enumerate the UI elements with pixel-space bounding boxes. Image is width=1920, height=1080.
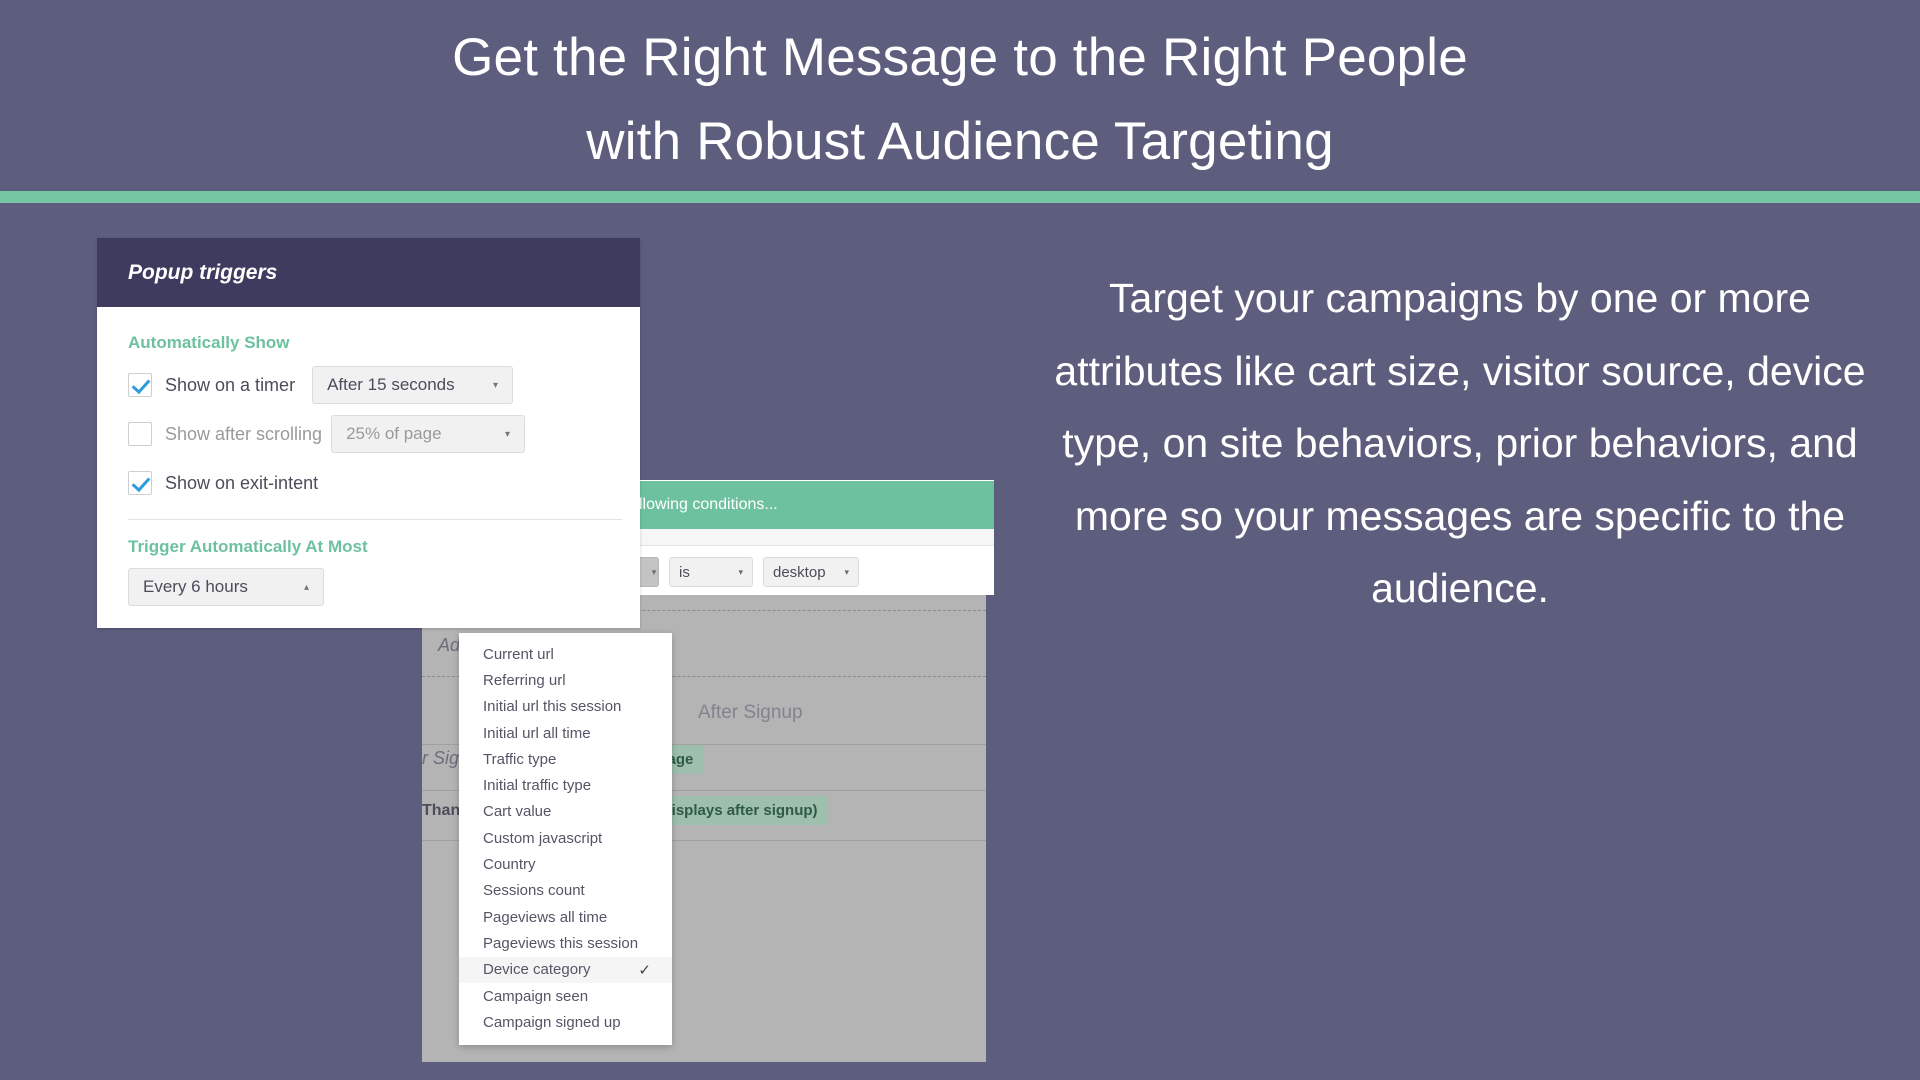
accent-divider: [0, 191, 1920, 203]
menu-item-label: Campaign signed up: [483, 1014, 621, 1031]
menu-item-initial-url-all-time[interactable]: Initial url all time: [459, 720, 672, 746]
condition-operator-value: is: [679, 564, 690, 581]
menu-item-label: Device category: [483, 961, 591, 978]
menu-item-label: Sessions count: [483, 882, 585, 899]
condition-row: ▾ is ▾ desktop ▾: [637, 557, 859, 587]
condition-operator-select[interactable]: is ▾: [669, 557, 753, 587]
checkbox-show-on-exit-intent[interactable]: [128, 471, 152, 495]
conditions-panel: llowing conditions... ▾ is ▾ desktop ▾: [637, 475, 994, 595]
label-show-on-exit-intent: Show on exit-intent: [165, 473, 318, 494]
conditions-header: llowing conditions...: [637, 481, 994, 529]
attribute-dropdown-menu: Current url Referring url Initial url th…: [459, 633, 672, 1045]
menu-item-pageviews-this-session[interactable]: Pageviews this session: [459, 930, 672, 956]
popup-triggers-body: Automatically Show Show on a timer After…: [97, 307, 640, 628]
chevron-down-icon: ▾: [493, 380, 498, 391]
bg-label-after-signup: After Signup: [698, 702, 803, 724]
menu-item-cart-value[interactable]: Cart value: [459, 799, 672, 825]
label-show-on-timer: Show on a timer: [165, 375, 295, 396]
menu-item-pageviews-all-time[interactable]: Pageviews all time: [459, 904, 672, 930]
select-scroll-amount-value: 25% of page: [346, 424, 441, 444]
trigger-option-exit-intent: Show on exit-intent: [128, 463, 640, 503]
menu-item-label: Referring url: [483, 672, 566, 689]
chevron-up-icon: ▴: [304, 582, 309, 593]
menu-item-label: Campaign seen: [483, 988, 588, 1005]
hero-banner: Get the Right Message to the Right Peopl…: [0, 0, 1920, 192]
chevron-down-icon: ▾: [844, 567, 849, 578]
popup-triggers-card: Popup triggers Automatically Show Show o…: [97, 238, 640, 628]
trigger-option-scroll: Show after scrolling 25% of page ▾: [128, 414, 640, 454]
condition-value: desktop: [773, 564, 826, 581]
menu-item-label: Pageviews this session: [483, 935, 638, 952]
section-label-automatically-show: Automatically Show: [128, 333, 640, 353]
menu-item-label: Initial traffic type: [483, 777, 591, 794]
menu-item-campaign-signed-up[interactable]: Campaign signed up: [459, 1009, 672, 1035]
check-icon: ✓: [638, 961, 651, 979]
menu-item-traffic-type[interactable]: Traffic type: [459, 746, 672, 772]
menu-item-label: Traffic type: [483, 751, 556, 768]
menu-item-label: Country: [483, 856, 536, 873]
select-trigger-frequency[interactable]: Every 6 hours ▴: [128, 568, 324, 606]
menu-item-initial-url-this-session[interactable]: Initial url this session: [459, 694, 672, 720]
checkbox-show-on-timer[interactable]: [128, 373, 152, 397]
menu-item-label: Pageviews all time: [483, 909, 607, 926]
description-text: Target your campaigns by one or more att…: [1040, 262, 1880, 625]
select-scroll-amount[interactable]: 25% of page ▾: [331, 415, 525, 453]
menu-item-label: Current url: [483, 646, 554, 663]
checkbox-show-after-scrolling[interactable]: [128, 422, 152, 446]
chevron-down-icon: ▾: [505, 429, 510, 440]
select-timer-delay[interactable]: After 15 seconds ▾: [312, 366, 513, 404]
page-title: Get the Right Message to the Right Peopl…: [0, 16, 1920, 184]
menu-item-label: Custom javascript: [483, 830, 602, 847]
menu-item-current-url[interactable]: Current url: [459, 641, 672, 667]
popup-triggers-title: Popup triggers: [128, 261, 277, 285]
label-show-after-scrolling: Show after scrolling: [165, 424, 322, 445]
menu-item-campaign-seen[interactable]: Campaign seen: [459, 983, 672, 1009]
menu-item-country[interactable]: Country: [459, 851, 672, 877]
menu-item-referring-url[interactable]: Referring url: [459, 667, 672, 693]
menu-item-initial-traffic-type[interactable]: Initial traffic type: [459, 772, 672, 798]
section-label-trigger-at-most: Trigger Automatically At Most: [128, 537, 640, 557]
menu-item-label: Initial url all time: [483, 725, 591, 742]
condition-attribute-select[interactable]: ▾: [637, 557, 659, 587]
conditions-subbar: [637, 529, 994, 546]
select-trigger-frequency-value: Every 6 hours: [143, 577, 248, 597]
chevron-down-icon: ▾: [652, 567, 657, 578]
popup-triggers-header: Popup triggers: [97, 238, 640, 307]
page-title-line2: with Robust Audience Targeting: [0, 100, 1920, 184]
condition-value-select[interactable]: desktop ▾: [763, 557, 859, 587]
menu-item-label: Initial url this session: [483, 698, 621, 715]
select-timer-delay-value: After 15 seconds: [327, 375, 455, 395]
menu-item-device-category[interactable]: Device category ✓: [459, 957, 672, 983]
conditions-top-border: [637, 475, 994, 480]
chevron-down-icon: ▾: [738, 567, 743, 578]
menu-item-sessions-count[interactable]: Sessions count: [459, 878, 672, 904]
trigger-option-timer: Show on a timer After 15 seconds ▾: [128, 365, 640, 405]
menu-item-custom-javascript[interactable]: Custom javascript: [459, 825, 672, 851]
menu-item-label: Cart value: [483, 803, 551, 820]
triggers-divider: [128, 519, 622, 520]
page-title-line1: Get the Right Message to the Right Peopl…: [0, 16, 1920, 100]
